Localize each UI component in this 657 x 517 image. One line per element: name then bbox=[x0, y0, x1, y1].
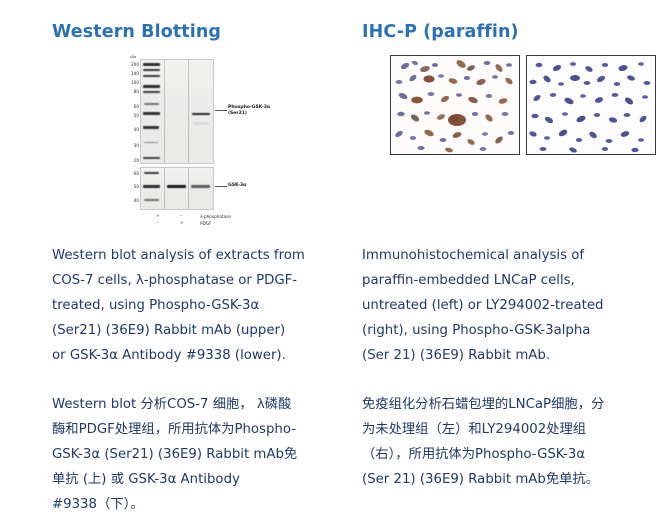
caption-line: (Ser21) (36E9) Rabbit mAb (upper) bbox=[52, 318, 314, 343]
ladder-label: 100 bbox=[125, 81, 139, 85]
total-gsk-band bbox=[191, 185, 210, 188]
ihc-p-column: IHC-P (paraffin) bbox=[328, 0, 656, 517]
caption-line: （右），所用抗体为Phospho-GSK-3α bbox=[362, 442, 642, 467]
treatment-symbol: + bbox=[156, 215, 160, 220]
ihc-caption-english: Immunohistochemical analysis of paraffin… bbox=[362, 233, 656, 368]
caption-line: Western blot analysis of extracts from bbox=[52, 243, 314, 268]
ihc-image-ly294002-treated bbox=[526, 55, 656, 155]
marker-band bbox=[143, 91, 160, 93]
marker-band bbox=[144, 172, 159, 174]
blot-lower-panel bbox=[140, 167, 214, 210]
ladder-label: 60 bbox=[125, 172, 139, 176]
lane-divider bbox=[164, 168, 165, 209]
lane-divider bbox=[188, 168, 189, 209]
marker-band bbox=[144, 199, 159, 201]
ladder-label: 60 bbox=[125, 105, 139, 109]
two-column-layout: Western Blotting kDa 200 140 100 80 60 5… bbox=[0, 0, 657, 517]
lower-band-annotation: GSK-3α bbox=[228, 183, 246, 189]
upper-band-label-line2: (Ser21) bbox=[228, 111, 247, 116]
ladder-label: 80 bbox=[125, 90, 139, 94]
page-title-ihc-p: IHC-P (paraffin) bbox=[362, 0, 656, 43]
marker-band bbox=[143, 185, 160, 188]
marker-band bbox=[143, 126, 159, 129]
marker-band bbox=[144, 103, 159, 105]
caption-line: (right), using Phospho-GSK-3alpha bbox=[362, 318, 642, 343]
ladder-label: 50 bbox=[125, 114, 139, 118]
caption-line: 酶和PDGF处理组，所用抗体为Phospho- bbox=[52, 417, 314, 442]
ihc-figure bbox=[362, 55, 656, 233]
upper-band-label-line1: Phospho-GSK-3α bbox=[228, 105, 270, 110]
caption-line: 为未处理组（左）和LY294002处理组 bbox=[362, 417, 642, 442]
ladder-label: 200 bbox=[125, 63, 139, 67]
phospho-band bbox=[192, 113, 210, 115]
faint-band bbox=[193, 123, 209, 124]
ihc-image-untreated bbox=[390, 55, 520, 155]
caption-line: 单抗 (上) 或 GSK-3α Antibody bbox=[52, 467, 314, 492]
treatment-symbol: – bbox=[156, 222, 158, 227]
treatment-symbol: – bbox=[180, 215, 182, 220]
caption-line: (Ser 21) (36E9) Rabbit mAb免单抗。 bbox=[362, 467, 642, 492]
caption-line: #9338（下）。 bbox=[52, 492, 314, 517]
marker-band bbox=[144, 142, 158, 143]
total-gsk-band bbox=[167, 185, 186, 188]
marker-band bbox=[143, 63, 160, 66]
marker-band bbox=[143, 75, 160, 77]
annotation-leader-line bbox=[215, 186, 227, 187]
ihc-caption-chinese: 免疫组化分析石蜡包埋的LNCaP细胞，分 为未处理组（左）和LY294002处理… bbox=[362, 368, 656, 492]
ladder-label: 40 bbox=[125, 128, 139, 132]
upper-band-annotation: Phospho-GSK-3α (Ser21) bbox=[228, 105, 270, 116]
page-title-western-blotting: Western Blotting bbox=[52, 0, 328, 43]
caption-line: treated, using Phospho-GSK-3α bbox=[52, 293, 314, 318]
marker-band bbox=[143, 69, 160, 71]
lane-divider bbox=[164, 60, 165, 163]
caption-line: paraffin-embedded LNCaP cells, bbox=[362, 268, 642, 293]
ihc-image-pair bbox=[390, 55, 656, 155]
ladder-label: 140 bbox=[125, 72, 139, 76]
annotation-leader-line bbox=[215, 110, 227, 111]
ihc-treated-svg bbox=[527, 56, 655, 154]
caption-line: (Ser 21) (36E9) Rabbit mAb. bbox=[362, 343, 642, 368]
treatment-label: PDGF bbox=[200, 222, 211, 226]
marker-band bbox=[143, 85, 160, 88]
marker-band bbox=[143, 157, 160, 159]
lane-divider bbox=[188, 60, 189, 163]
caption-line: Immunohistochemical analysis of bbox=[362, 243, 642, 268]
western-caption-english: Western blot analysis of extracts from C… bbox=[52, 233, 328, 368]
western-blot-image: kDa 200 140 100 80 60 50 40 30 20 bbox=[124, 55, 236, 227]
ladder-label: 20 bbox=[125, 159, 139, 163]
blot-upper-panel bbox=[140, 59, 214, 164]
western-blot-figure: kDa 200 140 100 80 60 50 40 30 20 bbox=[52, 55, 328, 233]
ladder-label: 30 bbox=[125, 144, 139, 148]
caption-line: or GSK-3α Antibody #9338 (lower). bbox=[52, 343, 314, 368]
product-validation-page: Western Blotting kDa 200 140 100 80 60 5… bbox=[0, 0, 657, 515]
marker-band bbox=[143, 112, 160, 115]
caption-line: COS-7 cells, λ-phosphatase or PDGF- bbox=[52, 268, 314, 293]
caption-line: 免疫组化分析石蜡包埋的LNCaP细胞，分 bbox=[362, 392, 642, 417]
treatment-label: λ-phosphatase bbox=[200, 215, 231, 219]
ladder-label: 50 bbox=[125, 185, 139, 189]
caption-line: Western blot 分析COS-7 细胞， λ磷酸 bbox=[52, 392, 314, 417]
ladder-label: 40 bbox=[125, 199, 139, 203]
western-blotting-column: Western Blotting kDa 200 140 100 80 60 5… bbox=[0, 0, 328, 517]
western-caption-chinese: Western blot 分析COS-7 细胞， λ磷酸 酶和PDGF处理组，所… bbox=[52, 368, 328, 517]
caption-line: GSK-3α (Ser21) (36E9) Rabbit mAb免 bbox=[52, 442, 314, 467]
treatment-symbol: + bbox=[180, 222, 184, 227]
kda-unit-label: kDa bbox=[130, 55, 136, 59]
ihc-untreated-svg bbox=[391, 56, 519, 154]
caption-line: untreated (left) or LY294002-treated bbox=[362, 293, 642, 318]
